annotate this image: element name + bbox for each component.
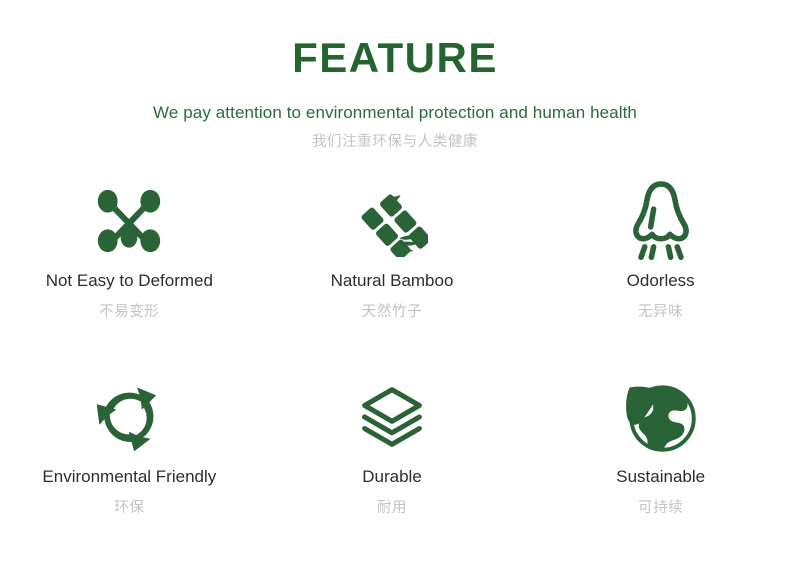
feature-label-en: Sustainable	[616, 467, 705, 487]
feature-label-en: Odorless	[627, 271, 695, 291]
feature-label-en: Not Easy to Deformed	[46, 271, 213, 291]
globe-leaf-icon	[622, 369, 700, 465]
feature-label-en: Natural Bamboo	[331, 271, 454, 291]
layers-icon	[356, 369, 428, 465]
feature-section: FEATURE We pay attention to environmenta…	[0, 0, 790, 576]
feature-item-natural-bamboo: Natural Bamboo 天然竹子	[259, 173, 522, 369]
feature-row: Environmental Friendly 环保	[0, 369, 790, 565]
feature-item-odorless: Odorless 无异味	[521, 173, 790, 369]
feature-label-cn: 耐用	[377, 500, 407, 517]
feature-label-cn: 天然竹子	[362, 304, 422, 321]
feature-grid: Not Easy to Deformed 不易变形	[0, 173, 790, 565]
feature-item-durable: Durable 耐用	[259, 369, 522, 565]
bamboo-icon	[356, 173, 428, 269]
feature-label-cn: 无异味	[638, 304, 683, 321]
molecule-x-icon	[91, 173, 167, 269]
feature-label-en: Environmental Friendly	[42, 467, 216, 487]
feature-label-cn: 可持续	[638, 500, 683, 517]
feature-label-cn: 环保	[114, 500, 144, 517]
feature-label-en: Durable	[362, 467, 422, 487]
feature-row: Not Easy to Deformed 不易变形	[0, 173, 790, 369]
feature-item-environmental-friendly: Environmental Friendly 环保	[0, 369, 259, 565]
page-title: FEATURE	[0, 36, 790, 80]
feature-item-sustainable: Sustainable 可持续	[521, 369, 790, 565]
section-header: FEATURE We pay attention to environmenta…	[0, 36, 790, 152]
nose-icon	[624, 173, 698, 269]
subtitle-english: We pay attention to environmental protec…	[0, 103, 790, 123]
subtitle-chinese: 我们注重环保与人类健康	[0, 134, 790, 151]
feature-item-not-easy-to-deformed: Not Easy to Deformed 不易变形	[0, 173, 259, 369]
recycle-icon	[89, 369, 169, 465]
feature-label-cn: 不易变形	[99, 304, 159, 321]
